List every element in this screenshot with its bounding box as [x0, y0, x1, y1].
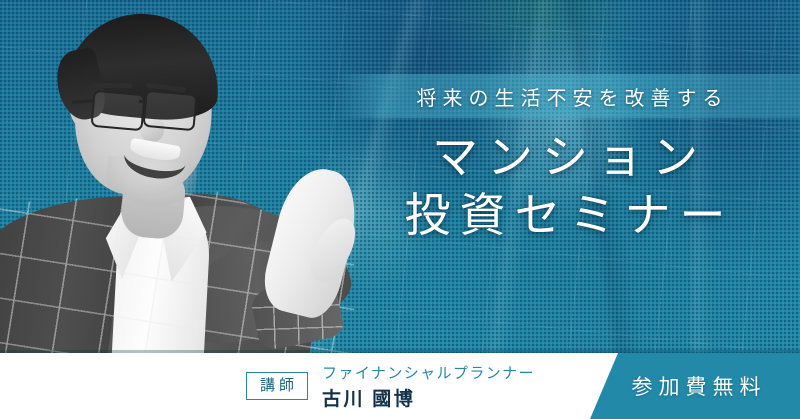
- title-line-1: マンション: [423, 131, 707, 185]
- subtitle-text: 将来の生活不安を改善する: [335, 74, 800, 118]
- title-line-2: 投資セミナー: [396, 189, 735, 243]
- free-entry-badge: 参加費無料: [590, 353, 800, 419]
- portrait-eyebrow-left: [93, 83, 133, 89]
- speaker-name: 古川 國博: [322, 384, 535, 411]
- speaker-role: ファイナンシャルプランナー: [322, 362, 535, 383]
- lecturer-label-badge: 講師: [246, 372, 308, 400]
- free-entry-label: 参加費無料: [624, 371, 767, 401]
- seminar-banner: 将来の生活不安を改善する マンション 投資セミナー 講師 ファイナンシャルプラン…: [0, 0, 800, 419]
- page-title: マンション 投資セミナー: [330, 122, 800, 252]
- speaker-info: 講師 ファイナンシャルプランナー 古川 國博: [246, 353, 535, 419]
- glasses-lens-right: [142, 90, 197, 131]
- speaker-text-group: ファイナンシャルプランナー 古川 國博: [322, 362, 535, 411]
- glasses-lens-left: [90, 90, 145, 131]
